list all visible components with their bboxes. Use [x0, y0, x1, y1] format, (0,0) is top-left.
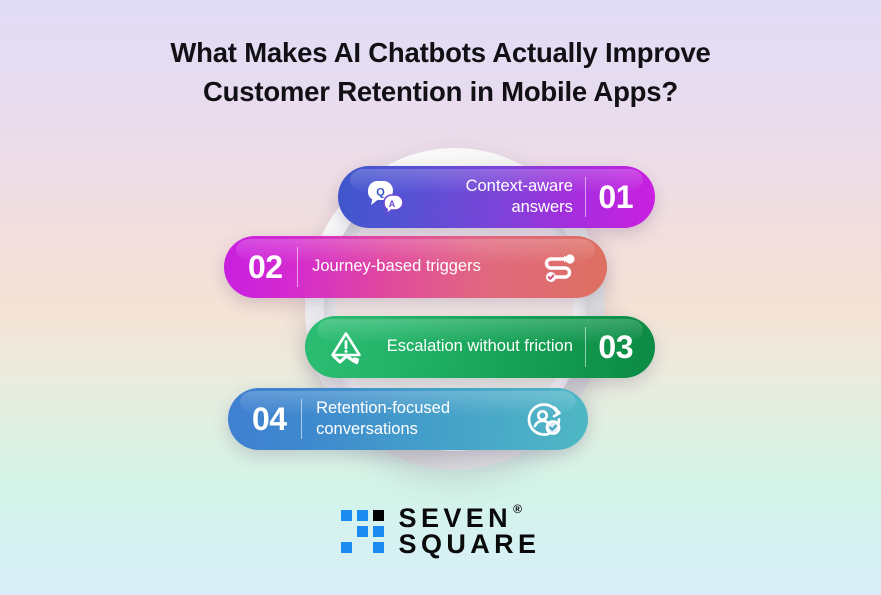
warning-trend-icon [327, 324, 373, 370]
divider [585, 177, 587, 217]
logo-square-8 [357, 542, 368, 553]
divider [585, 327, 587, 367]
list-item-label: Context-aware answers [420, 176, 573, 218]
logo-square-5 [357, 526, 368, 537]
logo-square-1 [341, 510, 352, 521]
logo-wordmark-line-2: SQUARE [399, 532, 541, 558]
route-path-icon [537, 244, 583, 290]
list-item-number: 03 [598, 331, 633, 363]
logo-square-9 [373, 542, 384, 553]
list-item-02[interactable]: 02 Journey-based triggers [224, 236, 607, 298]
logo-square-3 [373, 510, 384, 521]
list-item-label: Escalation without friction [385, 336, 573, 357]
list-item-03[interactable]: Escalation without friction 03 [305, 316, 655, 378]
divider [301, 399, 303, 439]
brand-logo: SEVEN ® SQUARE [0, 506, 881, 558]
qa-chat-bubbles-icon: Q A [362, 174, 408, 220]
list-item-number: 01 [598, 181, 633, 213]
list-item-number: 04 [252, 403, 287, 435]
logo-wordmark: SEVEN ® SQUARE [399, 506, 541, 558]
logo-square-6 [373, 526, 384, 537]
list-item-label: Retention-focused conversations [316, 398, 508, 440]
svg-text:A: A [389, 199, 396, 209]
svg-text:Q: Q [376, 187, 385, 199]
logo-square-7 [341, 542, 352, 553]
logo-square-4 [341, 526, 352, 537]
list-item-04[interactable]: 04 Retention-focused conversations [228, 388, 588, 450]
list-item-01[interactable]: Q A Context-aware answers 01 [338, 166, 655, 228]
list-item-label: Journey-based triggers [312, 256, 523, 277]
user-retention-check-icon [522, 396, 568, 442]
divider [297, 247, 299, 287]
logo-square-2 [357, 510, 368, 521]
list-item-number: 02 [248, 251, 283, 283]
registered-trademark-icon: ® [513, 504, 522, 516]
logo-square-grid [341, 510, 384, 554]
